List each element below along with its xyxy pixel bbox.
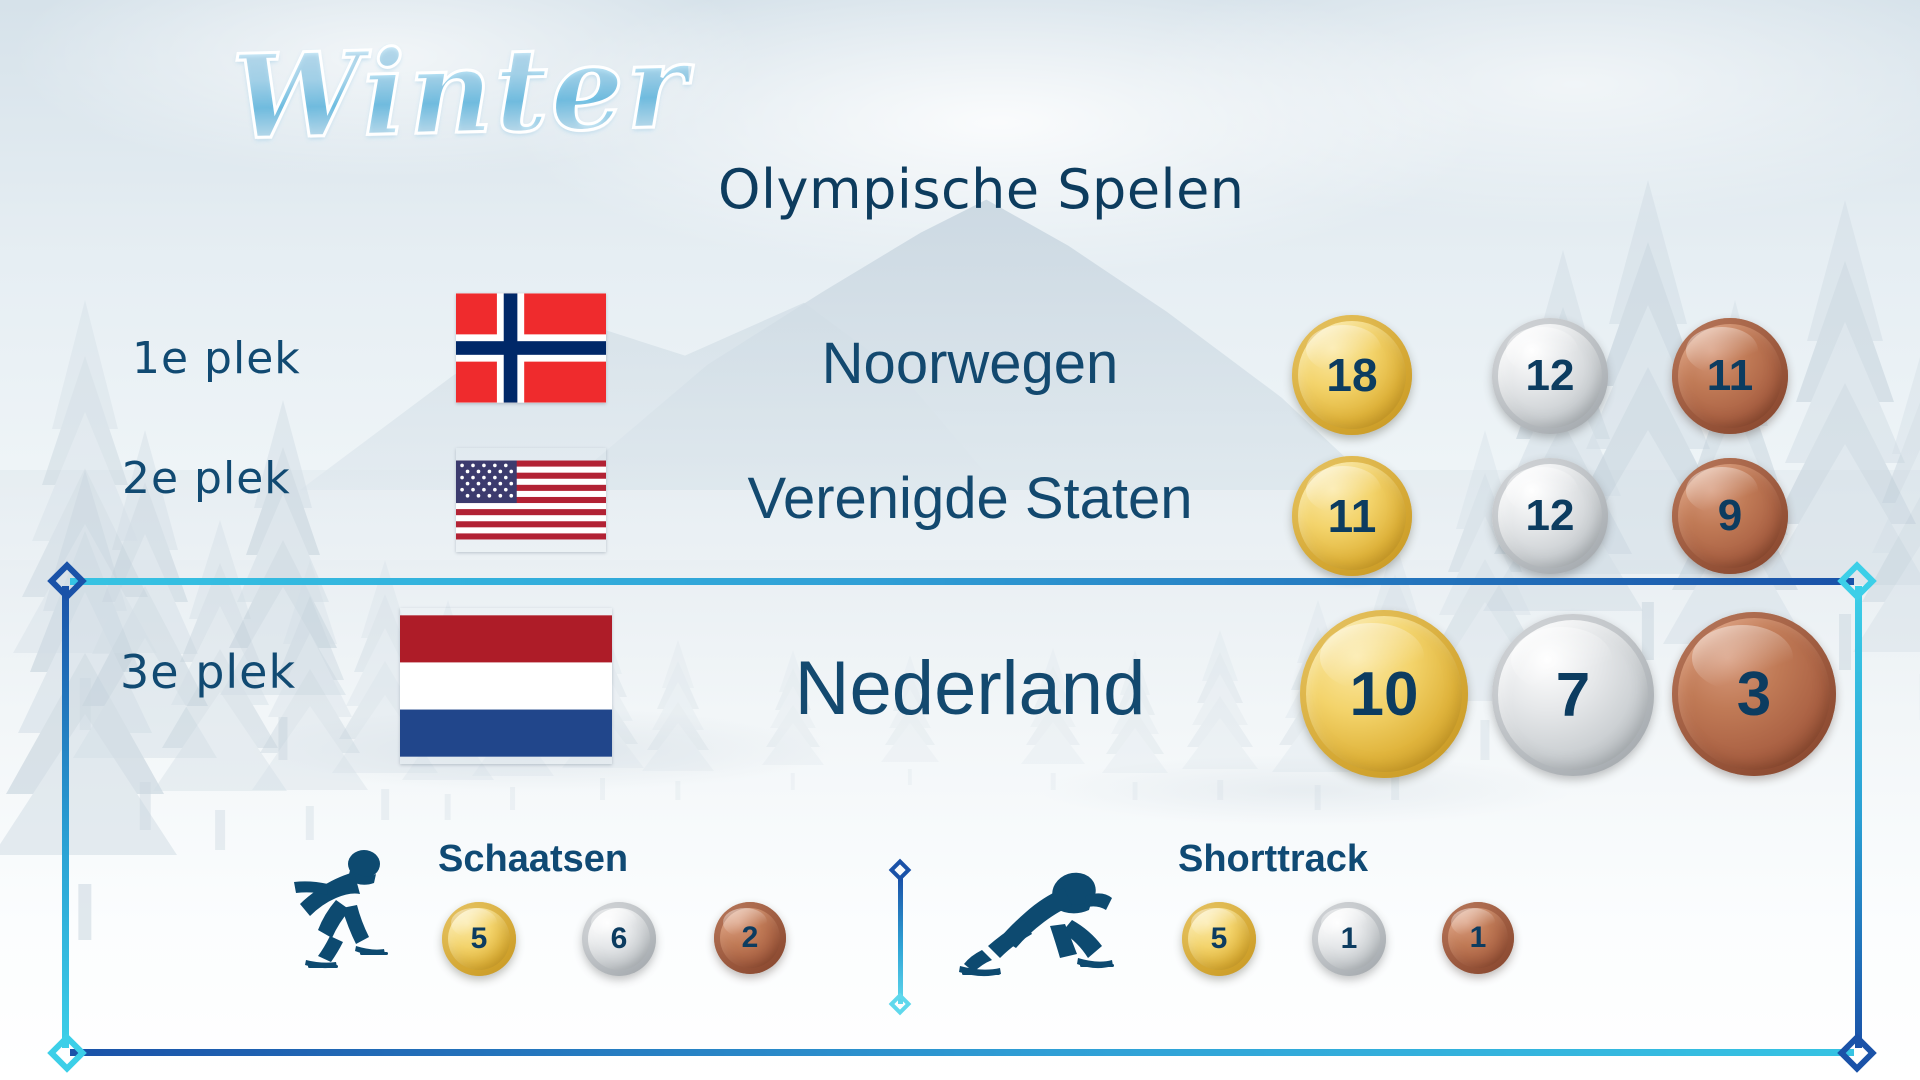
medal-silver-rank3: 7 [1492,614,1654,776]
rank-label-1: 1e plek [132,333,301,384]
medal-silver-rank2-value: 12 [1526,491,1575,541]
frame-left-edge [62,586,69,1048]
frame-right-edge [1855,586,1862,1048]
usa-flag [456,448,606,552]
sports-divider-line [898,878,903,1004]
sport-name-shorttrack: Shorttrack [1178,838,1368,881]
short-track-skater-icon [952,862,1142,987]
medal-silver-shorttrack-value: 1 [1341,922,1358,956]
medal-gold-shorttrack-value: 5 [1211,922,1228,956]
medal-bronze-rank2-value: 9 [1718,491,1742,541]
speed-skater-icon [272,842,402,987]
medal-bronze-rank2: 9 [1672,458,1788,574]
medal-silver-shorttrack: 1 [1312,902,1386,976]
medal-silver-rank2: 12 [1492,458,1608,574]
medal-gold-rank3: 10 [1300,610,1468,778]
medal-gold-schaatsen-value: 5 [471,922,488,956]
medal-bronze-rank1-value: 11 [1707,351,1754,401]
medal-silver-rank1-value: 12 [1526,351,1575,401]
frame-bottom-edge [70,1049,1854,1056]
sport-name-schaatsen: Schaatsen [438,838,628,881]
rank-label-2: 2e plek [122,453,291,504]
medal-bronze-shorttrack: 1 [1442,902,1514,974]
norway-flag [456,293,606,403]
medal-bronze-shorttrack-value: 1 [1470,921,1487,955]
infographic-stage: Winter Winter Olympische Spelen 1e plek … [0,0,1920,1080]
medal-gold-rank1-value: 18 [1326,348,1377,402]
medal-gold-rank3-value: 10 [1350,659,1419,730]
medal-gold-rank2-value: 11 [1328,489,1377,543]
rank-label-3: 3e plek [120,645,296,699]
medal-bronze-rank3-value: 3 [1737,659,1771,730]
netherlands-flag [400,608,612,764]
medal-gold-schaatsen: 5 [442,902,516,976]
country-name-1: Noorwegen [720,330,1220,397]
page-title-outline: Winter [230,18,691,166]
medal-gold-rank1: 18 [1292,315,1412,435]
medal-gold-rank2: 11 [1292,456,1412,576]
medal-bronze-schaatsen-value: 2 [742,921,759,955]
country-name-2: Verenigde Staten [700,465,1240,532]
country-name-3: Nederland [680,645,1260,732]
medal-silver-schaatsen-value: 6 [611,922,628,956]
medal-gold-shorttrack: 5 [1182,902,1256,976]
medal-bronze-schaatsen: 2 [714,902,786,974]
medal-bronze-rank3: 3 [1672,612,1836,776]
medal-silver-schaatsen: 6 [582,902,656,976]
page-subtitle: Olympische Spelen [718,158,1245,221]
medal-bronze-rank1: 11 [1672,318,1788,434]
frame-top-edge [70,578,1854,585]
medal-silver-rank3-value: 7 [1556,660,1590,731]
medal-silver-rank1: 12 [1492,318,1608,434]
